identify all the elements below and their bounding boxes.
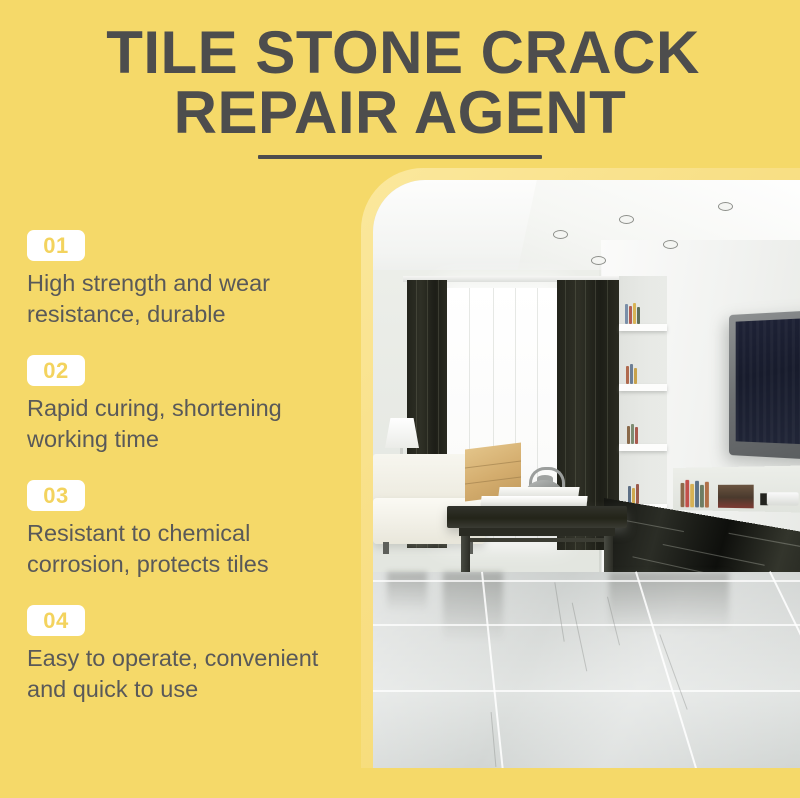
tiled-floor [373, 572, 800, 768]
room-photo [373, 180, 800, 768]
feature-list: 01 High strength and wear resistance, du… [27, 230, 357, 705]
book-stack-upper [498, 487, 579, 496]
title-line-2: REPAIR AGENT [0, 86, 800, 140]
feature-number-badge: 03 [27, 480, 85, 511]
list-item: 03 Resistant to chemical corrosion, prot… [27, 480, 357, 580]
feature-number-badge: 01 [27, 230, 85, 261]
feature-number-badge: 02 [27, 355, 85, 386]
room-photo-frame [361, 168, 800, 768]
feature-description: Resistant to chemical corrosion, protect… [27, 518, 347, 580]
title-line-1: TILE STONE CRACK [0, 26, 800, 80]
downlight-icon [591, 256, 606, 265]
page-title: TILE STONE CRACK REPAIR AGENT [0, 26, 800, 159]
list-item: 02 Rapid curing, shortening working time [27, 355, 357, 455]
feature-description: High strength and wear resistance, durab… [27, 268, 347, 330]
feature-number-badge: 04 [27, 605, 85, 636]
tv-screen [736, 315, 800, 448]
table-lamp-shade [385, 418, 419, 448]
table-top [447, 506, 627, 528]
product-poster: TILE STONE CRACK REPAIR AGENT 01 High st… [0, 0, 800, 798]
downlight-icon [718, 202, 733, 211]
feature-description: Easy to operate, convenient and quick to… [27, 643, 347, 705]
downlight-icon [663, 240, 678, 249]
feature-description: Rapid curing, shortening working time [27, 393, 347, 455]
list-item: 04 Easy to operate, convenient and quick… [27, 605, 357, 705]
title-underline-rule [258, 155, 542, 159]
list-item: 01 High strength and wear resistance, du… [27, 230, 357, 330]
downlight-icon [553, 230, 568, 239]
wall-niche [673, 465, 800, 512]
television [729, 306, 800, 463]
downlight-icon [619, 215, 634, 224]
